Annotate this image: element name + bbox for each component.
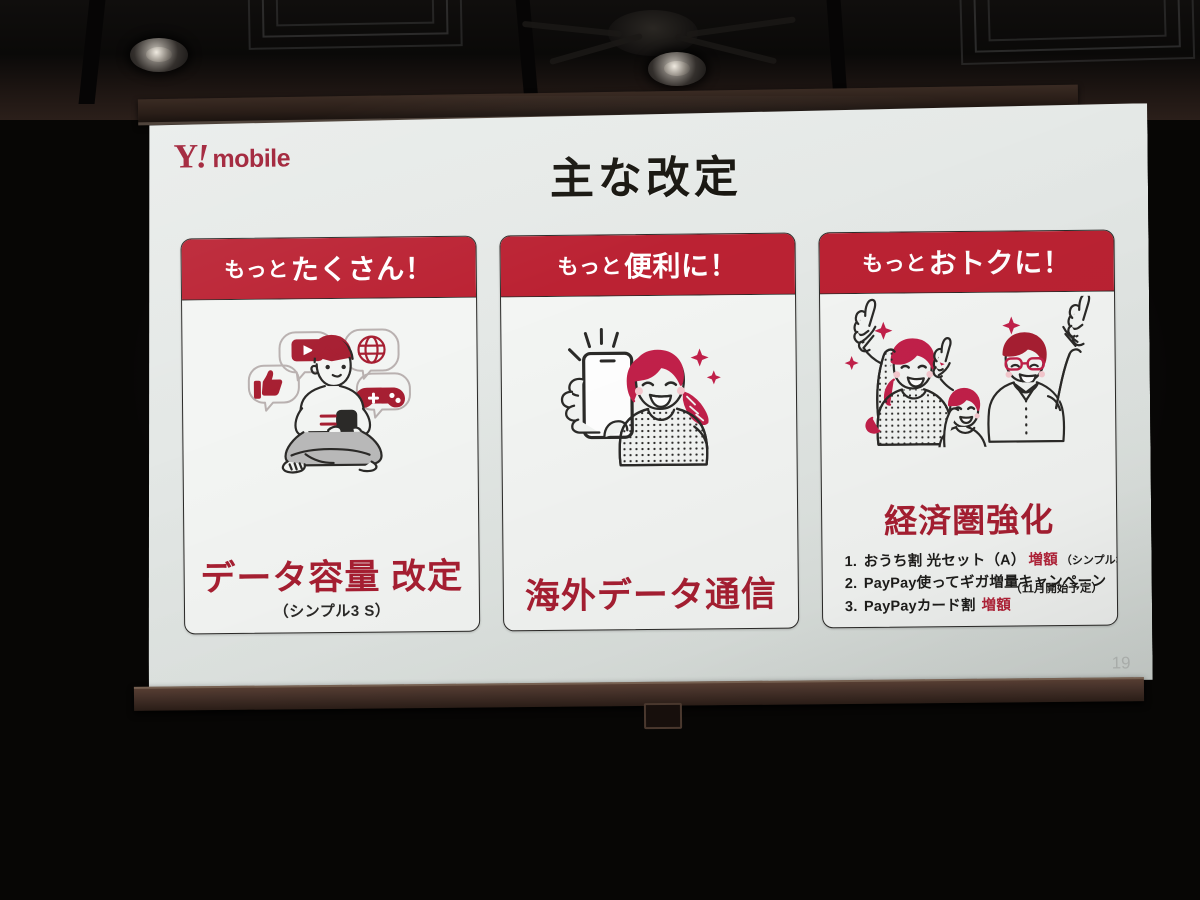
projection-room-photo: Y ! mobile 主な改定 もっと たくさん！: [0, 0, 1200, 900]
card-footer: 海外データ通信: [504, 574, 799, 631]
ceiling-coffer-left: [247, 0, 462, 50]
card-sublabel: [514, 617, 788, 620]
illustration-family-pointing-up: [820, 296, 1115, 449]
card-header-prefix: もっと: [557, 250, 622, 281]
card-header-main: おトクに！: [929, 241, 1072, 282]
card-body: 海外データ通信: [501, 295, 798, 632]
card-body: 経済圏強化 1. おうち割 光セット（A） 増額 （シンプル3 S）: [820, 292, 1117, 629]
card-label: 海外データ通信: [514, 574, 788, 616]
slide: Y ! mobile 主な改定 もっと たくさん！: [143, 103, 1153, 693]
list-item: 3. PayPayカード割 増額: [845, 593, 1107, 618]
ceiling-downlight: [130, 38, 188, 72]
list-item: 1. おうち割 光セット（A） 増額 （シンプル3 S）: [844, 548, 1106, 573]
card-footer: 経済圏強化 1. おうち割 光セット（A） 増額 （シンプル3 S）: [822, 492, 1117, 628]
card-label: 経済圏強化: [832, 492, 1106, 543]
card-footer: データ容量 改定 （シンプル3 S）: [185, 556, 480, 634]
card-header: もっと おトクに！: [819, 231, 1114, 295]
card-label: データ容量 改定: [195, 557, 469, 599]
illustration-woman-holding-phone: [501, 305, 797, 480]
slide-title: 主な改定: [144, 137, 1149, 211]
list-item-text: おうち割 光セット（A）: [863, 549, 1025, 573]
ceiling-downlight: [648, 52, 706, 86]
start-date-note: （11月開始予定）: [1010, 580, 1103, 597]
card-header-main: 便利に！: [624, 244, 738, 285]
ceiling-fan: [608, 10, 698, 56]
list-item-highlight: 増額: [1028, 549, 1058, 572]
ceiling-coffer-right: [959, 0, 1195, 65]
screen-pull-handle[interactable]: [644, 703, 682, 729]
card-header: もっと 便利に！: [500, 234, 795, 298]
projection-screen: Y ! mobile 主な改定 もっと たくさん！: [143, 103, 1153, 693]
list-item-number: 3.: [845, 595, 864, 618]
card-sublabel: （シンプル3 S）: [195, 599, 469, 623]
list-item-number: 2.: [845, 573, 864, 596]
card-header: もっと たくさん！: [181, 237, 476, 301]
card-overseas-data: もっと 便利に！: [499, 233, 799, 632]
card-header-prefix: もっと: [224, 253, 289, 284]
page-number: 19: [1112, 653, 1131, 673]
card-header-prefix: もっと: [862, 247, 927, 278]
illustration-person-with-smartphone: [182, 308, 478, 483]
card-row: もっと たくさん！: [180, 230, 1118, 635]
screen-surface: Y ! mobile 主な改定 もっと たくさん！: [143, 103, 1153, 693]
card-header-main: たくさん！: [291, 247, 434, 288]
card-data-capacity: もっと たくさん！: [180, 236, 480, 635]
card-body: データ容量 改定 （シンプル3 S）: [182, 298, 479, 635]
list-item-tail: （シンプル3 S）: [1061, 552, 1118, 570]
card-economic-zone: もっと おトクに！: [818, 230, 1118, 629]
list-item-number: 1.: [844, 551, 863, 574]
list-item-text: PayPayカード割: [864, 594, 976, 618]
list-item-highlight: 増額: [982, 594, 1012, 617]
